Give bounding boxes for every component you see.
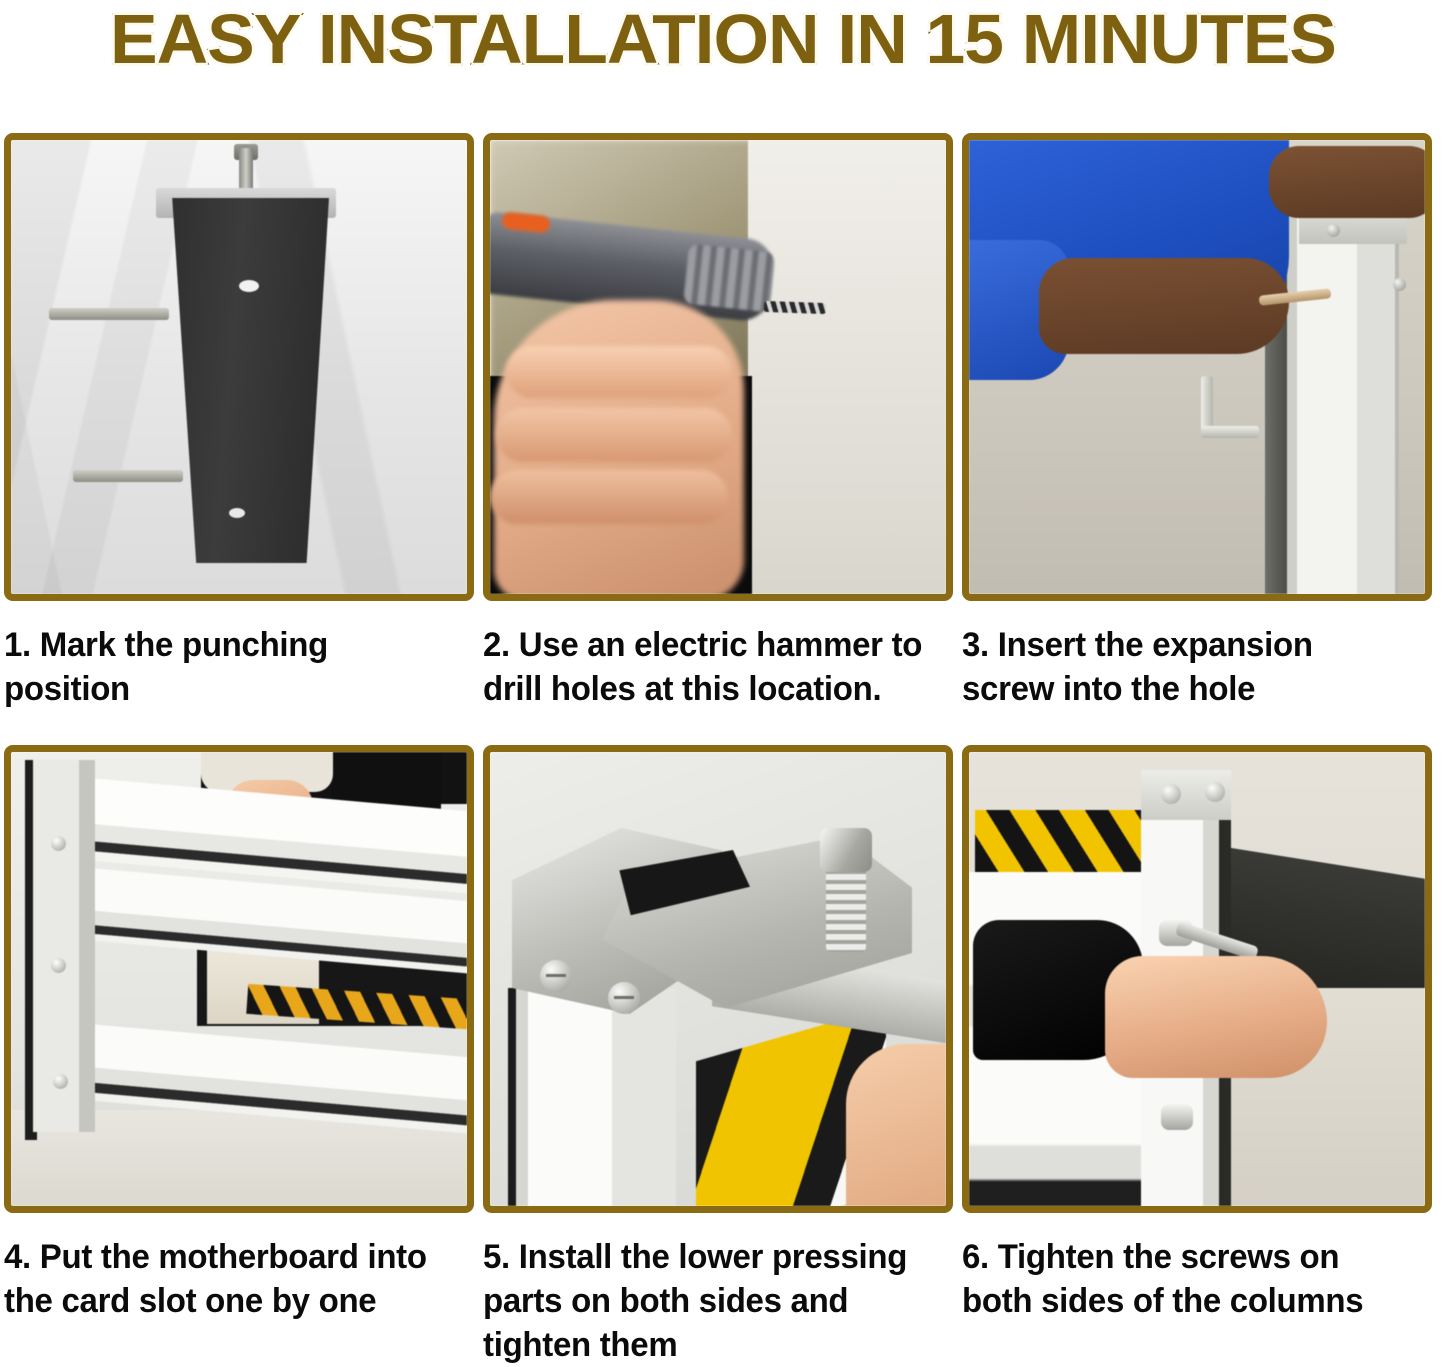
step-3-photo-insert-expansion-screw (969, 140, 1425, 594)
bolt-head (820, 828, 872, 872)
step-6-caption: 6. Tighten the screws on both sides of t… (962, 1235, 1410, 1323)
column-screw-1 (51, 836, 66, 851)
column-screw-3 (53, 1074, 68, 1089)
step-5-photo-frame (483, 745, 953, 1213)
step-6-photo-tighten-screws (969, 752, 1425, 1206)
step-card-3: 3. Insert the expansion screw into the h… (962, 133, 1440, 745)
worker-second-arm (1269, 146, 1425, 218)
white-column (516, 988, 676, 1206)
step-3-photo-frame (962, 133, 1432, 601)
drill-bit (764, 301, 826, 314)
step-3-caption: 3. Insert the expansion screw into the h… (962, 623, 1410, 711)
bracket-hole-lower (229, 508, 245, 518)
header-title-bar: EASY INSTALLATION IN 15 MINUTES (0, 0, 1445, 108)
bracket-hole-upper (239, 280, 259, 292)
side-bolt-upper (49, 308, 169, 320)
step-4-photo-insert-boards (11, 752, 467, 1206)
step-card-6: 6. Tighten the screws on both sides of t… (962, 745, 1440, 1357)
step-1-photo-mark-punching-position (11, 140, 467, 594)
step-1-photo-frame (4, 133, 474, 601)
white-column (1287, 194, 1399, 594)
step-2-photo-drill-holes (490, 140, 946, 594)
step-card-5: 5. Install the lower pressing parts on b… (483, 745, 961, 1357)
step-card-2: 2. Use an electric hammer to drill holes… (483, 133, 961, 745)
step-4-caption: 4. Put the motherboard into the card slo… (4, 1235, 452, 1323)
finger-lower (490, 470, 728, 524)
step-1-caption: 1. Mark the punching position (4, 623, 452, 711)
bracket-body (169, 198, 329, 563)
side-bolt-lower (73, 470, 183, 482)
finger-upper (506, 346, 732, 398)
column-cap-screw-1 (1161, 784, 1181, 804)
step-5-photo-lower-pressing-parts (490, 752, 946, 1206)
step-2-photo-frame (483, 133, 953, 601)
step-card-4: 4. Put the motherboard into the card slo… (4, 745, 482, 1357)
bolt-threaded-shaft (826, 864, 866, 952)
bracket-screw-1 (540, 960, 572, 992)
white-wall-surface (748, 140, 946, 594)
column-screw-lower (1393, 278, 1406, 291)
column-screw-upper (1327, 224, 1340, 237)
installer-fingers (846, 1044, 946, 1206)
installation-steps-grid: 1. Mark the punching position 2. Use an … (4, 133, 1441, 1357)
allen-key-short-arm (1201, 426, 1259, 438)
bracket-screw-2 (608, 982, 640, 1014)
step-2-caption: 2. Use an electric hammer to drill holes… (483, 623, 931, 711)
column-cap-screw-2 (1205, 782, 1225, 802)
column-screw-2 (51, 958, 66, 973)
step-4-photo-frame (4, 745, 474, 1213)
installer-hand (1105, 956, 1327, 1078)
column-side-screw-lower (1161, 1104, 1193, 1130)
finger-middle (496, 408, 732, 462)
drill-chuck (683, 244, 775, 313)
step-card-1: 1. Mark the punching position (4, 133, 482, 745)
page-title: EASY INSTALLATION IN 15 MINUTES (110, 0, 1336, 76)
step-6-photo-frame (962, 745, 1432, 1213)
step-5-caption: 5. Install the lower pressing parts on b… (483, 1235, 931, 1367)
hazard-stripe-tape (975, 810, 1151, 872)
worker-arm (1039, 258, 1289, 354)
